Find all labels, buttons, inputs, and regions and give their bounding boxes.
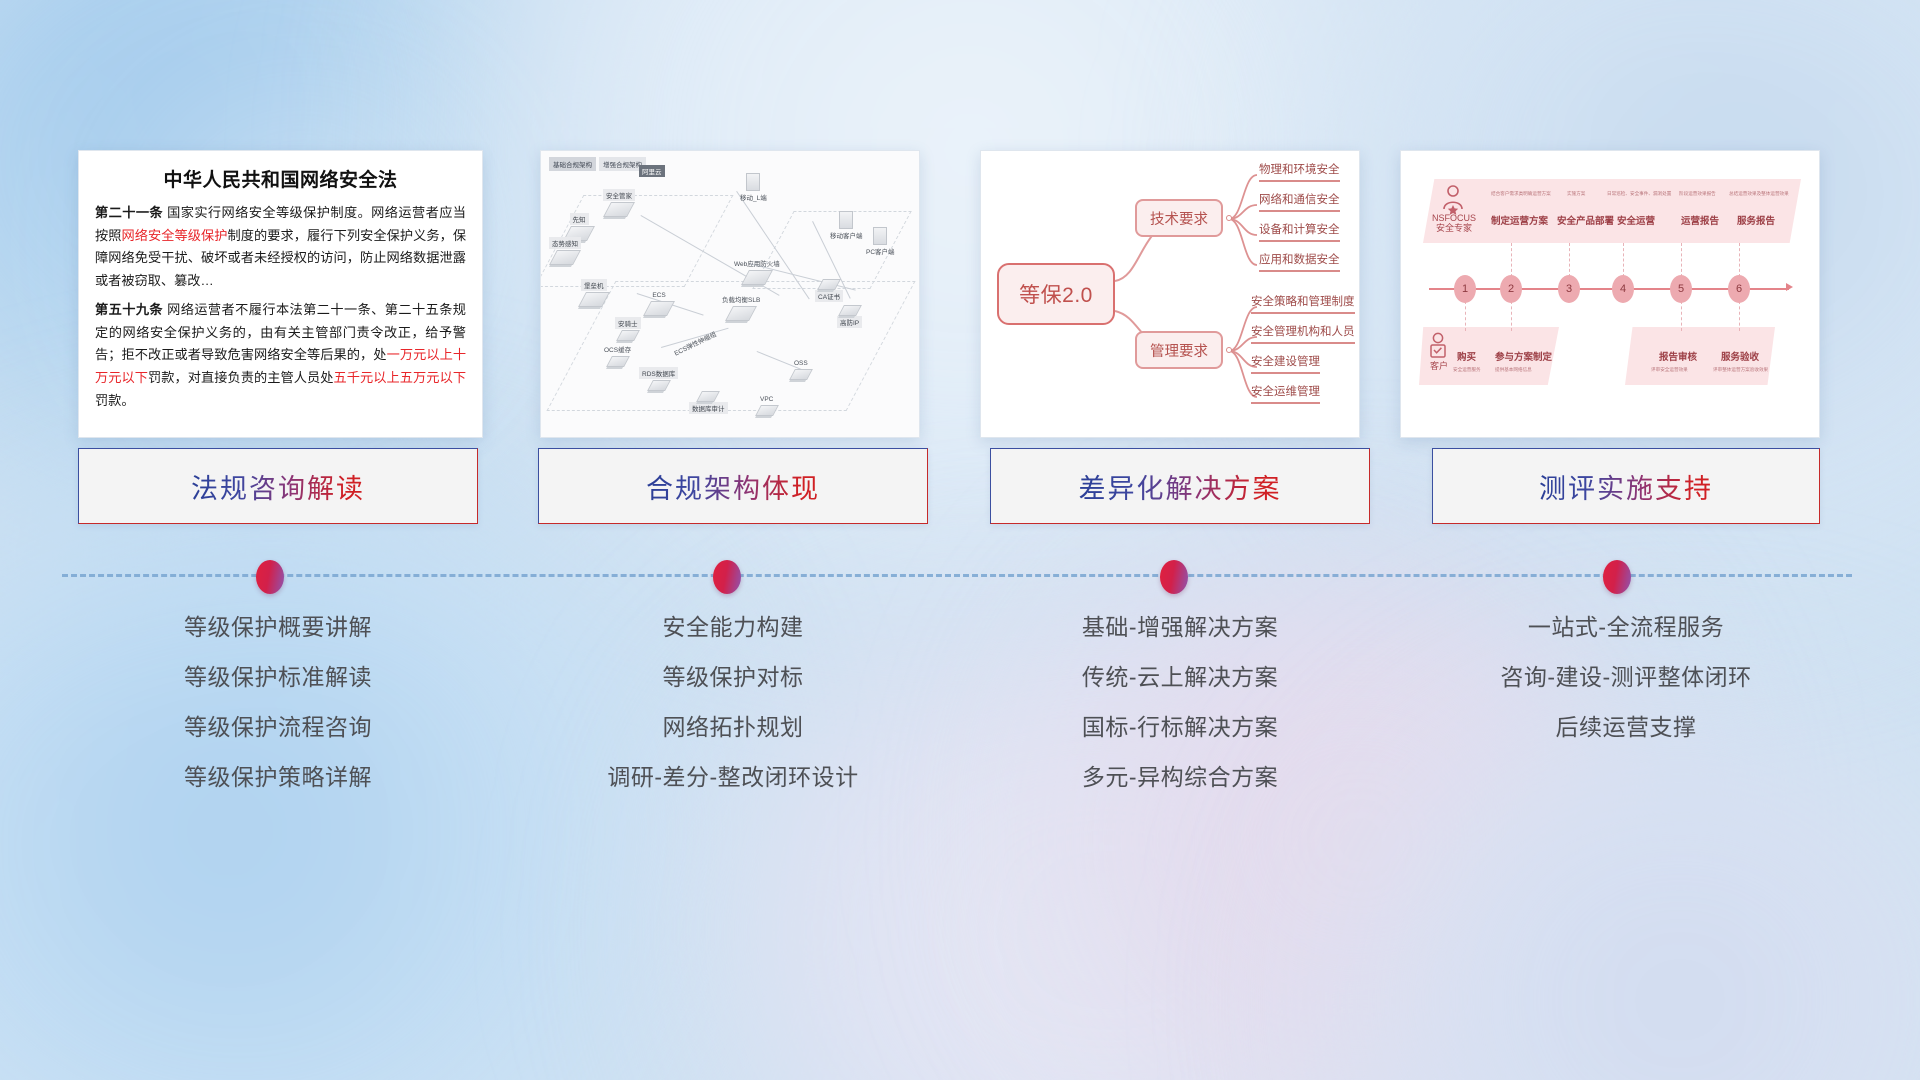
law-body: 中华人民共和国网络安全法 第二十一条 国家实行网络安全等级保护制度。网络运营者应… xyxy=(79,151,482,420)
mindmap-leaf-physical: 物理和环境安全 xyxy=(1259,161,1340,182)
timeline-marker-2 xyxy=(713,560,741,594)
mindmap-leaf-org: 安全管理机构和人员 xyxy=(1251,323,1355,344)
cube-icon xyxy=(606,356,630,367)
law-title: 中华人民共和国网络安全法 xyxy=(95,165,466,192)
arch-node-mobile-end: 移动_L端 xyxy=(737,173,770,204)
list-item: 一站式-全流程服务 xyxy=(1432,616,1820,639)
arch-node-rds: RDS数据库 xyxy=(639,367,678,391)
arch-node-oss: OSS xyxy=(791,359,811,380)
expert-role: 安全专家 xyxy=(1423,223,1485,233)
architecture-card: 基础合规架构 增强合规架构 阿里云 安全管家 xyxy=(540,150,920,438)
cube-icon xyxy=(578,292,610,307)
list-item: 等级保护概要讲解 xyxy=(78,616,478,639)
architecture-diagram: 基础合规架构 增强合规架构 阿里云 安全管家 xyxy=(541,151,919,437)
timeline-node-5: 5 xyxy=(1670,275,1692,303)
arch-node-slb: 负载均衡SLB xyxy=(719,293,763,321)
heading-label: 差异化解决方案 xyxy=(1079,467,1282,506)
arch-node-mobile-end-label: 移动_L端 xyxy=(737,191,770,203)
arch-node-ecs-scaling: ECS弹性伸缩组 xyxy=(669,337,721,350)
top-step-2-sub: 结合客户需求类明确运营方案 xyxy=(1491,191,1551,197)
timeline-connector-2 xyxy=(1511,243,1512,277)
law-article-21: 第二十一条 国家实行网络安全等级保护制度。网络运营者应当按照网络安全等级保护制度… xyxy=(95,202,466,293)
arch-node-waf: Web应用防火墙 xyxy=(731,257,783,285)
arch-node-rds-label: RDS数据库 xyxy=(639,367,678,379)
cube-icon xyxy=(647,380,671,391)
timeline-connector-4 xyxy=(1623,243,1624,277)
arch-node-db-audit-label: 数据库审计 xyxy=(689,402,728,414)
mindmap-leaf-application: 应用和数据安全 xyxy=(1259,251,1340,272)
cube-icon xyxy=(603,202,635,217)
bottom-step-2-sub: 提供基本网络信息 xyxy=(1495,367,1532,373)
expert-name: NSFOCUS xyxy=(1423,213,1485,223)
slide-root: 中华人民共和国网络安全法 第二十一条 国家实行网络安全等级保护制度。网络运营者应… xyxy=(0,0,1920,1080)
detail-list-regulation-consulting: 等级保护概要讲解 等级保护标准解读 等级保护流程咨询 等级保护策略详解 xyxy=(78,616,478,816)
list-item: 等级保护策略详解 xyxy=(78,766,478,789)
arch-node-db-audit: 数据库审计 xyxy=(689,391,728,415)
arch-node-vpc: VPC xyxy=(757,395,776,416)
cube-icon xyxy=(616,330,640,341)
heading-box-regulation-consulting[interactable]: 法规咨询解读 xyxy=(78,448,478,524)
arch-node-waf-label: Web应用防火墙 xyxy=(731,257,783,269)
arch-node-anqishi-label: 安骑士 xyxy=(615,317,641,329)
list-item: 咨询-建设-测评整体闭环 xyxy=(1432,666,1820,689)
timeline-connector-6b xyxy=(1739,301,1740,331)
list-item: 安全能力构建 xyxy=(538,616,928,639)
list-item: 等级保护流程咨询 xyxy=(78,716,478,739)
arch-node-situational-awareness-label: 态势感知 xyxy=(549,237,581,249)
top-step-6-sub: 总结运营效果及整体运营效果 xyxy=(1729,191,1789,197)
cube-icon xyxy=(838,305,862,316)
list-item: 网络拓扑规划 xyxy=(538,716,928,739)
timeline-strip xyxy=(0,556,1920,596)
top-step-3-title: 安全产品部署 xyxy=(1557,213,1614,227)
expert-label: NSFOCUS 安全专家 xyxy=(1423,213,1485,234)
arch-node-ecs: ECS xyxy=(647,291,671,316)
arch-node-ca: CA证书 xyxy=(815,279,843,303)
arch-node-situational-awareness: 态势感知 xyxy=(549,237,581,265)
architecture-tabs: 基础合规架构 增强合规架构 xyxy=(549,157,646,171)
timeline-arrow-icon xyxy=(1786,283,1793,291)
top-step-2-title: 制定运营方案 xyxy=(1491,213,1548,227)
cube-icon xyxy=(789,369,813,380)
arch-node-oss-label: OSS xyxy=(791,359,811,368)
arch-node-security-butler: 安全管家 xyxy=(603,189,635,217)
bottom-step-5-sub: 评审安全运营效果 xyxy=(1651,367,1688,373)
timeline-marker-1 xyxy=(256,560,284,594)
arch-node-ecs-label: ECS xyxy=(649,291,668,300)
server-icon xyxy=(839,211,853,229)
timeline-connector-2b xyxy=(1511,301,1512,331)
service-timeline-card: NSFOCUS 安全专家 结合客户需求类明确运营方案 制定运营方案 实施方案 安… xyxy=(1400,150,1820,438)
bottom-step-6-title: 服务验收 xyxy=(1721,349,1759,363)
mindmap-collapse-dot-icon xyxy=(1226,215,1232,221)
mindmap-collapse-dot-icon xyxy=(1226,347,1232,353)
timeline-node-2: 2 xyxy=(1500,275,1522,303)
cube-icon xyxy=(741,270,773,285)
arch-node-mobile-client: 移动客户端 xyxy=(827,211,866,242)
timeline-node-3: 3 xyxy=(1558,275,1580,303)
architecture-tab-basic: 基础合规架构 xyxy=(549,157,596,171)
bottom-step-1-sub: 安全运营服务 xyxy=(1453,367,1481,373)
server-icon xyxy=(746,173,760,191)
article-21-label: 第二十一条 xyxy=(95,205,163,220)
mindmap-leaf-device: 设备和计算安全 xyxy=(1259,221,1340,242)
mindmap-leaf-policy: 安全策略和管理制度 xyxy=(1251,293,1355,314)
mindmap-diagram: 等保2.0 技术要求 管理要求 物理和环境安全 网络和通信安全 设备和计算安全 … xyxy=(981,151,1359,437)
top-step-5-sub: 阶段运营效果报告 xyxy=(1679,191,1716,197)
list-item: 国标-行标解决方案 xyxy=(990,716,1370,739)
bottom-step-5-title: 报告审核 xyxy=(1659,349,1697,363)
list-item: 后续运营支撑 xyxy=(1432,716,1820,739)
list-item: 基础-增强解决方案 xyxy=(990,616,1370,639)
detail-list-assessment-support: 一站式-全流程服务 咨询-建设-测评整体闭环 后续运营支撑 xyxy=(1432,616,1820,766)
arch-node-ocs-label: OCS缓存 xyxy=(601,343,634,355)
heading-label: 测评实施支持 xyxy=(1539,467,1713,506)
arch-node-ocs: OCS缓存 xyxy=(601,343,634,367)
law-article-59: 第五十九条 网络运营者不履行本法第二十一条、第二十五条规定的网络安全保护义务的，… xyxy=(95,299,466,413)
timeline-connector-1b xyxy=(1465,301,1466,331)
arch-node-security-butler-label: 安全管家 xyxy=(603,189,635,201)
mindmap-branch-management: 管理要求 xyxy=(1135,331,1223,369)
mindmap-leaf-network: 网络和通信安全 xyxy=(1259,191,1340,212)
cube-icon xyxy=(725,306,757,321)
timeline-marker-3 xyxy=(1160,560,1188,594)
cube-icon xyxy=(817,279,841,290)
arch-node-pc-client: PC客户端 xyxy=(863,227,898,258)
list-item: 等级保护标准解读 xyxy=(78,666,478,689)
heading-row: 法规咨询解读 合规架构体现 差异化解决方案 测评实施支持 xyxy=(0,448,1920,528)
arch-node-antiddos-label: 高防IP xyxy=(837,316,862,328)
detail-list-row: 等级保护概要讲解 等级保护标准解读 等级保护流程咨询 等级保护策略详解 安全能力… xyxy=(0,616,1920,856)
list-item: 传统-云上解决方案 xyxy=(990,666,1370,689)
service-timeline-diagram: NSFOCUS 安全专家 结合客户需求类明确运营方案 制定运营方案 实施方案 安… xyxy=(1401,151,1819,437)
timeline-dashed-line xyxy=(62,574,1852,577)
top-step-3-sub: 实施方案 xyxy=(1567,191,1585,197)
customer-avatar-icon xyxy=(1425,331,1451,361)
expert-avatar-icon xyxy=(1437,183,1471,217)
arch-node-mobile-client-label: 移动客户端 xyxy=(827,229,866,241)
arch-node-cloud: 阿里云 xyxy=(639,165,665,178)
top-step-5-title: 运营报告 xyxy=(1681,213,1719,227)
arch-node-ca-label: CA证书 xyxy=(815,290,843,302)
arch-node-antiddos: 高防IP xyxy=(837,305,862,329)
bottom-step-2-title: 参与方案制定 xyxy=(1495,349,1552,363)
heading-label: 法规咨询解读 xyxy=(191,467,365,506)
detail-list-compliance-architecture: 安全能力构建 等级保护对标 网络拓扑规划 调研-差分-整改闭环设计 xyxy=(538,616,928,816)
server-icon xyxy=(873,227,887,245)
mindmap-leaf-operation: 安全运维管理 xyxy=(1251,383,1320,404)
bottom-step-6-sub: 评审整体运营方案验收效果 xyxy=(1713,367,1768,373)
timeline-connector-5 xyxy=(1681,243,1682,277)
cube-icon xyxy=(643,301,675,316)
top-step-4-title: 安全运营 xyxy=(1617,213,1655,227)
illustration-card-row: 中华人民共和国网络安全法 第二十一条 国家实行网络安全等级保护制度。网络运营者应… xyxy=(0,150,1920,450)
arch-node-bastion-label: 堡垒机 xyxy=(581,279,607,291)
law-card: 中华人民共和国网络安全法 第二十一条 国家实行网络安全等级保护制度。网络运营者应… xyxy=(78,150,483,438)
arch-node-vpc-label: VPC xyxy=(757,395,776,404)
arch-node-bastion: 堡垒机 xyxy=(581,279,607,307)
article-59-label: 第五十九条 xyxy=(95,302,163,317)
list-item: 等级保护对标 xyxy=(538,666,928,689)
timeline-connector-6 xyxy=(1739,243,1740,277)
heading-box-differentiated-solution[interactable]: 差异化解决方案 xyxy=(990,448,1370,524)
heading-label: 合规架构体现 xyxy=(646,467,820,506)
list-item: 多元-异构综合方案 xyxy=(990,766,1370,789)
article-21-highlight: 网络安全等级保护 xyxy=(122,228,228,243)
arch-node-xianzhi-label: 先知 xyxy=(570,213,589,225)
arch-node-cloud-label: 阿里云 xyxy=(639,165,665,177)
arch-node-slb-label: 负载均衡SLB xyxy=(719,293,763,305)
article-59-highlight-2: 五千元以上五万元以下 xyxy=(334,370,466,385)
top-step-6-title: 服务报告 xyxy=(1737,213,1775,227)
list-item: 调研-差分-整改闭环设计 xyxy=(538,766,928,789)
timeline-node-6: 6 xyxy=(1728,275,1750,303)
arch-node-pc-client-label: PC客户端 xyxy=(863,245,898,257)
timeline-node-4: 4 xyxy=(1612,275,1634,303)
timeline-connector-5b xyxy=(1681,301,1682,331)
arch-node-anqishi: 安骑士 xyxy=(615,317,641,341)
timeline-node-1: 1 xyxy=(1454,275,1476,303)
mindmap-branch-technical: 技术要求 xyxy=(1135,199,1223,237)
timeline-connector-3 xyxy=(1569,243,1570,277)
timeline-marker-4 xyxy=(1603,560,1631,594)
heading-box-compliance-architecture[interactable]: 合规架构体现 xyxy=(538,448,928,524)
cube-icon xyxy=(549,250,581,265)
mindmap-leaf-construction: 安全建设管理 xyxy=(1251,353,1320,374)
bottom-step-1-title: 购买 xyxy=(1457,349,1476,363)
article-59-text-3: 罚款。 xyxy=(95,393,135,408)
cube-icon xyxy=(696,391,720,402)
mindmap-card: 等保2.0 技术要求 管理要求 物理和环境安全 网络和通信安全 设备和计算安全 … xyxy=(980,150,1360,438)
mindmap-root-node: 等保2.0 xyxy=(997,263,1115,325)
detail-list-differentiated-solution: 基础-增强解决方案 传统-云上解决方案 国标-行标解决方案 多元-异构综合方案 xyxy=(990,616,1370,816)
article-59-text-2: 罚款，对直接负责的主管人员处 xyxy=(148,370,334,385)
cube-icon xyxy=(755,405,779,416)
top-step-4-sub: 日常巡检、安全事件、漏洞处置 xyxy=(1607,191,1671,197)
heading-box-assessment-support[interactable]: 测评实施支持 xyxy=(1432,448,1820,524)
customer-role-label: 客户 xyxy=(1423,361,1455,371)
